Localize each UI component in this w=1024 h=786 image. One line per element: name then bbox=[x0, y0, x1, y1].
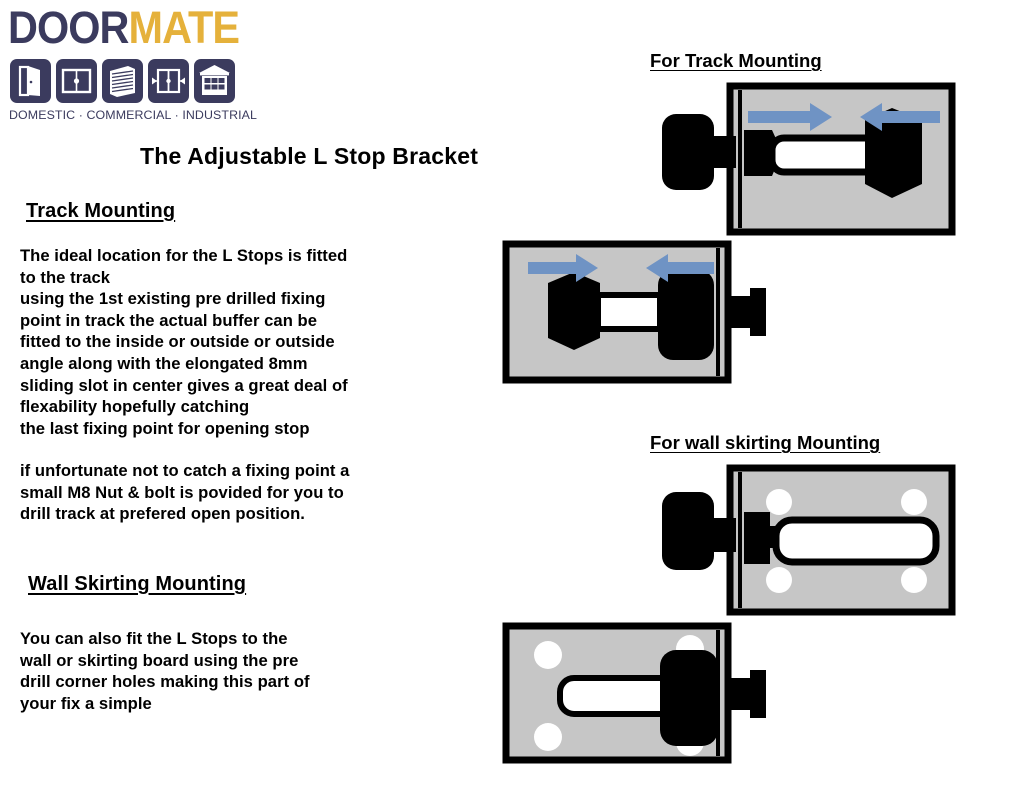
corner-hole bbox=[766, 489, 792, 515]
corner-hole bbox=[534, 641, 562, 669]
corner-hole bbox=[534, 723, 562, 751]
diagram-track-front-view bbox=[660, 80, 960, 240]
logo-word-door: DOOR bbox=[8, 2, 129, 53]
logo-word-mate: MATE bbox=[129, 2, 240, 53]
paragraph-track-mounting-1: The ideal location for the L Stops is fi… bbox=[20, 245, 420, 439]
corner-hole bbox=[901, 489, 927, 515]
paragraph-wall-skirting-1: You can also fit the L Stops to the wall… bbox=[20, 628, 420, 714]
industrial-building-icon bbox=[194, 59, 235, 103]
logo-icon-row bbox=[10, 59, 235, 103]
page-canvas: DOORMATE bbox=[0, 0, 1024, 786]
page-title: The Adjustable L Stop Bracket bbox=[140, 143, 478, 170]
logo-tagline: DOMESTIC · COMMERCIAL · INDUSTRIAL bbox=[9, 108, 257, 122]
diagram-track-side-view bbox=[500, 238, 790, 398]
open-door-icon bbox=[10, 59, 51, 103]
corner-hole bbox=[901, 567, 927, 593]
window-icon bbox=[56, 59, 97, 103]
diagram-heading-for-wall-skirting-mounting: For wall skirting Mounting bbox=[650, 432, 880, 454]
sliding-door-icon bbox=[148, 59, 189, 103]
diagram-wall-side-view bbox=[500, 620, 790, 772]
diagram-heading-for-track-mounting: For Track Mounting bbox=[650, 50, 822, 72]
corner-hole bbox=[766, 567, 792, 593]
section-heading-track-mounting: Track Mounting bbox=[26, 200, 175, 223]
section-heading-wall-skirting-mounting: Wall Skirting Mounting bbox=[28, 573, 246, 596]
logo-wordmark: DOORMATE bbox=[8, 4, 239, 52]
doormate-logo: DOORMATE bbox=[8, 4, 244, 128]
diagram-wall-front-view bbox=[660, 462, 960, 620]
paragraph-track-mounting-2: if unfortunate not to catch a fixing poi… bbox=[20, 460, 420, 525]
roller-shutter-icon bbox=[102, 59, 143, 103]
